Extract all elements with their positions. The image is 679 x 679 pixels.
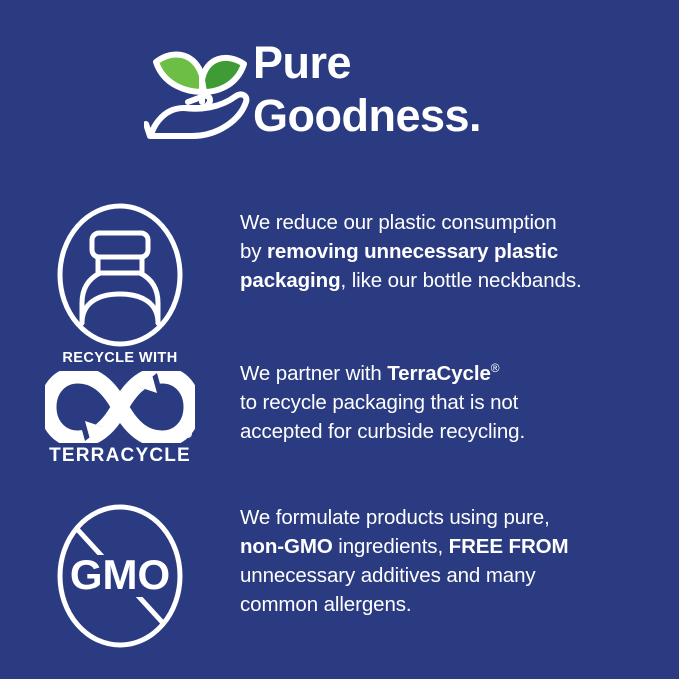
claim-line: to recycle packaging that is not	[240, 388, 665, 417]
claim-row-terracycle: RECYCLE WITH TERRACYCLE We partner with …	[0, 345, 679, 467]
claim-line: non-GMO ingredients, FREE FROM	[240, 532, 665, 561]
hand-holding-sprout-icon	[144, 36, 256, 144]
gmo-label: GMO	[70, 551, 170, 598]
page-title-line-2: Goodness.	[253, 89, 673, 142]
claim-text-terracycle: We partner with TerraCycle® to recycle p…	[240, 345, 679, 446]
no-gmo-circle-icon: GMO	[54, 501, 186, 651]
terracycle-logo-icon: RECYCLE WITH TERRACYCLE	[45, 349, 195, 467]
claim-text-plastic: We reduce our plastic consumption by rem…	[240, 196, 679, 295]
bottle-neckband-circle-icon	[54, 200, 186, 350]
registered-trademark-symbol: ®	[491, 361, 500, 375]
page-title: Pure Goodness.	[253, 36, 673, 142]
icon-cell: RECYCLE WITH TERRACYCLE	[0, 345, 240, 467]
claim-row-gmo: GMO We formulate products using pure, no…	[0, 497, 679, 651]
claim-line: unnecessary additives and many	[240, 561, 665, 590]
terracycle-logo-top-text: RECYCLE WITH	[45, 349, 195, 367]
claim-line: common allergens.	[240, 590, 665, 619]
claim-line: We partner with TerraCycle®	[240, 359, 665, 388]
claim-text-gmo: We formulate products using pure, non-GM…	[240, 497, 679, 619]
pure-goodness-infographic: Pure Goodness. We reduce our plastic con…	[0, 0, 679, 679]
claim-line: accepted for curbside recycling.	[240, 417, 665, 446]
claim-row-plastic: We reduce our plastic consumption by rem…	[0, 196, 679, 350]
page-title-line-1: Pure	[253, 36, 673, 89]
claim-line: We formulate products using pure,	[240, 503, 665, 532]
claim-line: packaging, like our bottle neckbands.	[240, 266, 665, 295]
claim-line: We reduce our plastic consumption	[240, 208, 665, 237]
icon-cell: GMO	[0, 497, 240, 651]
infinity-recycle-loop-icon	[45, 371, 195, 443]
claim-line: by removing unnecessary plastic	[240, 237, 665, 266]
icon-cell	[0, 196, 240, 350]
terracycle-logo-bottom-text: TERRACYCLE	[45, 445, 195, 467]
header: Pure Goodness.	[0, 0, 679, 175]
